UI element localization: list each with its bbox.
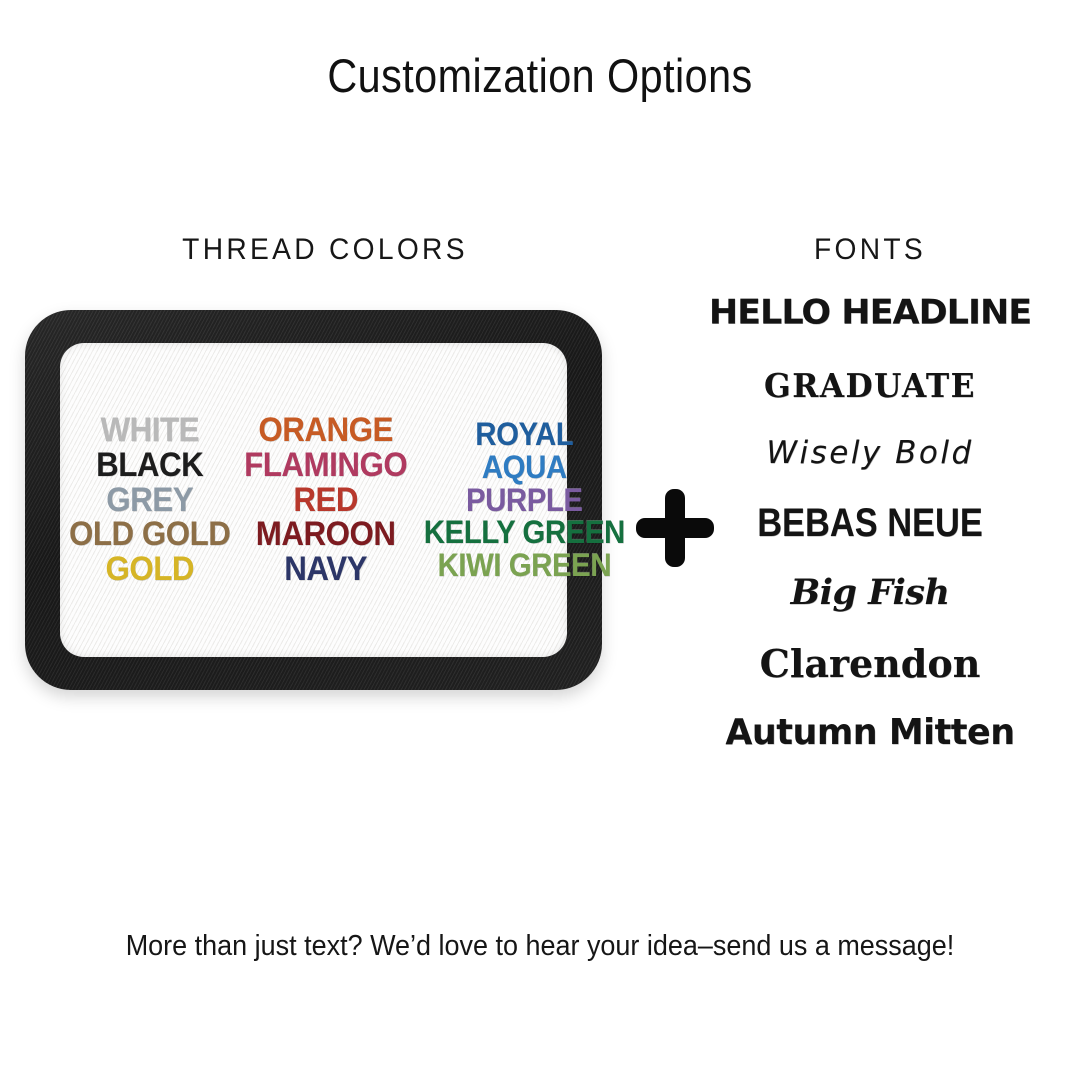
- font-sample-bebas-neue: BEBAS NEUE: [715, 501, 1025, 546]
- thread-colors-heading: THREAD COLORS: [57, 233, 593, 267]
- patch-face: WHITE BLACK GREY OLD GOLD GOLD ORANGE FL…: [60, 343, 567, 657]
- thread-color-black: BLACK: [69, 448, 230, 483]
- thread-color-column-2: ORANGE FLAMINGO RED MAROON NAVY: [237, 413, 414, 586]
- thread-color-orange: ORANGE: [245, 413, 408, 448]
- fonts-heading: FONTS: [710, 233, 1030, 267]
- thread-color-column-1: WHITE BLACK GREY OLD GOLD GOLD: [62, 413, 237, 586]
- thread-color-navy: NAVY: [245, 552, 408, 587]
- thread-color-column-3: ROYAL AQUA PURPLE KELLY GREEN KIWI GREEN: [415, 418, 634, 581]
- thread-color-gold: GOLD: [69, 552, 230, 587]
- page-title: Customization Options: [65, 48, 1015, 103]
- font-sample-list: HELLO HEADLINE GRADUATE Wisely Bold BEBA…: [690, 293, 1050, 753]
- thread-color-kiwi-green: KIWI GREEN: [423, 549, 624, 582]
- thread-color-flamingo: FLAMINGO: [245, 448, 408, 483]
- font-sample-clarendon: Clarendon: [690, 641, 1050, 686]
- font-sample-hello-headline: HELLO HEADLINE: [690, 294, 1050, 332]
- font-sample-wisely-bold: Wisely Bold: [690, 435, 1050, 471]
- thread-color-aqua: AQUA: [423, 451, 624, 484]
- thread-color-old-gold: OLD GOLD: [69, 517, 230, 552]
- thread-color-grid: WHITE BLACK GREY OLD GOLD GOLD ORANGE FL…: [60, 343, 567, 657]
- font-sample-big-fish: Big Fish: [690, 572, 1050, 613]
- options-columns: THREAD COLORS FONTS WHITE BLACK GREY OLD…: [0, 215, 1080, 835]
- thread-color-patch: WHITE BLACK GREY OLD GOLD GOLD ORANGE FL…: [25, 310, 602, 690]
- footer-note: More than just text? We’d love to hear y…: [38, 930, 1042, 963]
- thread-color-maroon: MAROON: [245, 517, 408, 552]
- thread-color-red: RED: [245, 483, 408, 518]
- thread-color-kelly-green: KELLY GREEN: [423, 516, 624, 549]
- thread-color-royal: ROYAL: [423, 418, 624, 451]
- plus-icon-vertical-bar: [665, 489, 685, 567]
- font-sample-graduate: GRADUATE: [699, 366, 1041, 405]
- thread-color-purple: PURPLE: [423, 484, 624, 517]
- thread-color-white: WHITE: [69, 413, 230, 448]
- font-sample-autumn-mitten: Autumn Mitten: [695, 712, 1044, 753]
- thread-color-grey: GREY: [69, 483, 230, 518]
